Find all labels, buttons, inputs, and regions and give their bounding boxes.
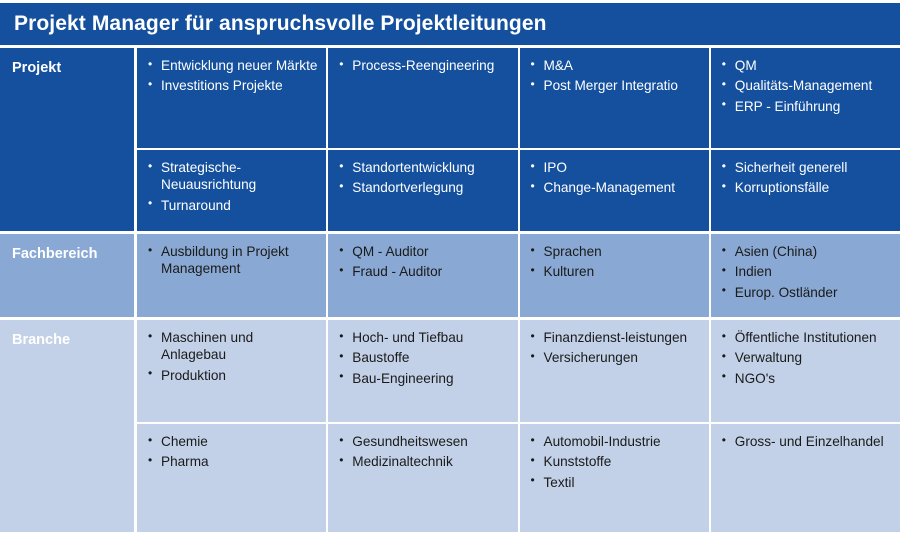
competency-matrix: Projekt Entwicklung neuer Märkte Investi…: [0, 48, 900, 538]
list-item: Verwaltung: [721, 349, 892, 366]
list-item: Investitions Projekte: [147, 77, 318, 94]
bullet-list: Asien (China) Indien Europ. Ostländer: [721, 243, 892, 301]
table-row: Maschinen und Anlagebau Produktion Hoch-…: [137, 320, 900, 422]
matrix-cell[interactable]: Entwicklung neuer Märkte Investitions Pr…: [137, 48, 326, 148]
matrix-cell[interactable]: Strategische-Neuausrichtung Turnaround: [137, 150, 326, 231]
bullet-list: Strategische-Neuausrichtung Turnaround: [147, 159, 318, 214]
list-item: Medizinaltechnik: [338, 453, 509, 470]
bullet-list: Process-Reengineering: [338, 57, 509, 74]
bullet-list: QM - Auditor Fraud - Auditor: [338, 243, 509, 281]
bullet-list: Sprachen Kulturen: [530, 243, 701, 281]
list-item: Kunststoffe: [530, 453, 701, 470]
section-rows-branche: Maschinen und Anlagebau Produktion Hoch-…: [137, 320, 900, 532]
list-item: Indien: [721, 263, 892, 280]
table-row: Entwicklung neuer Märkte Investitions Pr…: [137, 48, 900, 148]
list-item: Europ. Ostländer: [721, 284, 892, 301]
list-item: M&A: [530, 57, 701, 74]
bullet-list: Gesundheitswesen Medizinaltechnik: [338, 433, 509, 471]
section-label-projekt: Projekt: [12, 60, 134, 77]
matrix-cell[interactable]: Ausbildung in Projekt Management: [137, 234, 326, 317]
list-item: Automobil-Industrie: [530, 433, 701, 450]
matrix-cell[interactable]: Gesundheitswesen Medizinaltechnik: [326, 424, 517, 532]
list-item: Post Merger Integratio: [530, 77, 701, 94]
bullet-list: Gross- und Einzelhandel: [721, 433, 892, 450]
list-item: Pharma: [147, 453, 318, 470]
table-row: Strategische-Neuausrichtung Turnaround S…: [137, 148, 900, 231]
matrix-cell[interactable]: Hoch- und Tiefbau Baustoffe Bau-Engineer…: [326, 320, 517, 422]
list-item: Strategische-Neuausrichtung: [147, 159, 318, 194]
matrix-cell[interactable]: Gross- und Einzelhandel: [709, 424, 900, 532]
list-item: Finanzdienst-leistungen: [530, 329, 701, 346]
list-item: Asien (China): [721, 243, 892, 260]
list-item: Textil: [530, 474, 701, 491]
matrix-cell[interactable]: Maschinen und Anlagebau Produktion: [137, 320, 326, 422]
list-item: Entwicklung neuer Märkte: [147, 57, 318, 74]
list-item: NGO's: [721, 370, 892, 387]
list-item: ERP - Einführung: [721, 98, 892, 115]
table-row: Chemie Pharma Gesundheitswesen Medizinal…: [137, 422, 900, 532]
section-label-fachbereich: Fachbereich: [12, 246, 134, 263]
section-label-cell-fachbereich: Fachbereich: [0, 234, 137, 317]
list-item: Produktion: [147, 367, 318, 384]
slide-root: Projekt Manager für anspruchsvolle Proje…: [0, 0, 900, 538]
bullet-list: Öffentliche Institutionen Verwaltung NGO…: [721, 329, 892, 387]
bullet-list: IPO Change-Management: [530, 159, 701, 197]
list-item: Standortentwicklung: [338, 159, 509, 176]
matrix-cell[interactable]: Sprachen Kulturen: [518, 234, 709, 317]
matrix-cell[interactable]: IPO Change-Management: [518, 150, 709, 231]
section-projekt: Projekt Entwicklung neuer Märkte Investi…: [0, 48, 900, 231]
list-item: IPO: [530, 159, 701, 176]
page-title: Projekt Manager für anspruchsvolle Proje…: [14, 12, 547, 35]
list-item: Öffentliche Institutionen: [721, 329, 892, 346]
list-item: Ausbildung in Projekt Management: [147, 243, 318, 278]
title-bar: Projekt Manager für anspruchsvolle Proje…: [0, 3, 900, 45]
list-item: Process-Reengineering: [338, 57, 509, 74]
bullet-list: Sicherheit generell Korruptionsfälle: [721, 159, 892, 197]
matrix-cell[interactable]: M&A Post Merger Integratio: [518, 48, 709, 148]
list-item: Hoch- und Tiefbau: [338, 329, 509, 346]
bullet-list: QM Qualitäts-Management ERP - Einführung: [721, 57, 892, 115]
section-rows-projekt: Entwicklung neuer Märkte Investitions Pr…: [137, 48, 900, 231]
section-rows-fachbereich: Ausbildung in Projekt Management QM - Au…: [137, 234, 900, 317]
list-item: Standortverlegung: [338, 179, 509, 196]
matrix-cell[interactable]: Chemie Pharma: [137, 424, 326, 532]
matrix-cell[interactable]: Standortentwicklung Standortverlegung: [326, 150, 517, 231]
list-item: QM: [721, 57, 892, 74]
bullet-list: Hoch- und Tiefbau Baustoffe Bau-Engineer…: [338, 329, 509, 387]
list-item: Qualitäts-Management: [721, 77, 892, 94]
list-item: Change-Management: [530, 179, 701, 196]
list-item: Turnaround: [147, 197, 318, 214]
bullet-list: Chemie Pharma: [147, 433, 318, 471]
list-item: Gesundheitswesen: [338, 433, 509, 450]
matrix-cell[interactable]: Finanzdienst-leistungen Versicherungen: [518, 320, 709, 422]
table-row: Ausbildung in Projekt Management QM - Au…: [137, 234, 900, 317]
bullet-list: Automobil-Industrie Kunststoffe Textil: [530, 433, 701, 491]
list-item: QM - Auditor: [338, 243, 509, 260]
list-item: Fraud - Auditor: [338, 263, 509, 280]
section-label-cell-branche: Branche: [0, 320, 137, 532]
matrix-cell[interactable]: Automobil-Industrie Kunststoffe Textil: [518, 424, 709, 532]
list-item: Gross- und Einzelhandel: [721, 433, 892, 450]
list-item: Bau-Engineering: [338, 370, 509, 387]
matrix-cell[interactable]: Asien (China) Indien Europ. Ostländer: [709, 234, 900, 317]
bullet-list: Entwicklung neuer Märkte Investitions Pr…: [147, 57, 318, 95]
section-fachbereich: Fachbereich Ausbildung in Projekt Manage…: [0, 231, 900, 317]
bullet-list: Maschinen und Anlagebau Produktion: [147, 329, 318, 384]
bullet-list: Finanzdienst-leistungen Versicherungen: [530, 329, 701, 367]
list-item: Korruptionsfälle: [721, 179, 892, 196]
list-item: Sicherheit generell: [721, 159, 892, 176]
matrix-cell[interactable]: QM - Auditor Fraud - Auditor: [326, 234, 517, 317]
list-item: Versicherungen: [530, 349, 701, 366]
list-item: Kulturen: [530, 263, 701, 280]
bullet-list: Ausbildung in Projekt Management: [147, 243, 318, 278]
list-item: Chemie: [147, 433, 318, 450]
section-label-cell-projekt: Projekt: [0, 48, 137, 231]
matrix-cell[interactable]: Öffentliche Institutionen Verwaltung NGO…: [709, 320, 900, 422]
bullet-list: M&A Post Merger Integratio: [530, 57, 701, 95]
list-item: Sprachen: [530, 243, 701, 260]
section-branche: Branche Maschinen und Anlagebau Produkti…: [0, 317, 900, 532]
bullet-list: Standortentwicklung Standortverlegung: [338, 159, 509, 197]
list-item: Baustoffe: [338, 349, 509, 366]
list-item: Maschinen und Anlagebau: [147, 329, 318, 364]
matrix-cell[interactable]: Sicherheit generell Korruptionsfälle: [709, 150, 900, 231]
matrix-cell[interactable]: QM Qualitäts-Management ERP - Einführung: [709, 48, 900, 148]
section-label-branche: Branche: [12, 332, 134, 349]
matrix-cell[interactable]: Process-Reengineering: [326, 48, 517, 148]
